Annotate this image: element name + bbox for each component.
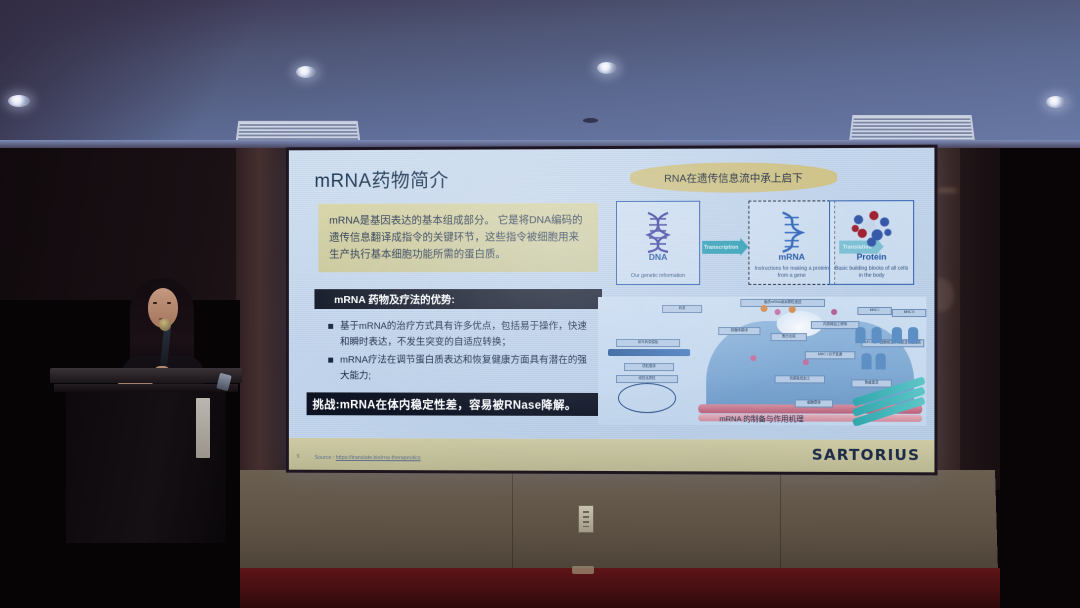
pathway-node-mrna: mRNA Instructions for making a protein f… [748,200,835,285]
mechanism-figure: 体外转录模板 质粒载体 线性化质粒 转录 脂质mRNA纳米颗粒递送 核糖体翻译 … [598,297,926,426]
dna-construct-bar [608,349,690,356]
wall-highlight [936,188,958,193]
projection-screen: mRNA药物简介 mRNA是基因表达的基本组成部分。 它是将DNA编码的遗传信息… [286,145,938,476]
figure-label: MHC II [892,309,926,317]
presenter-eye [153,302,157,304]
wall-seam [512,470,513,575]
receptor-icon [872,327,882,343]
arrow-transcription: Transcription [702,241,740,254]
figure-label: 细胞受体 [795,399,833,407]
pathway-node-protein: Protein Basic building blocks of all cel… [829,200,914,285]
protein-blob-icon [848,208,895,248]
floor-object [572,566,594,574]
pathway-node-dna: DNA Our genetic information [616,201,700,285]
dna-helix-icon [641,210,675,254]
bullet-square-icon [328,324,333,329]
microphone-head-icon [159,318,171,331]
lipid-particle [803,359,809,365]
source-label: Source : [314,455,335,461]
advantages-header-bar: mRNA 药物及疗法的优势: [314,289,602,309]
sartorius-logo: SARTORIUS [812,446,921,465]
wall-pillar [236,148,288,490]
pathway-node-name: Protein [830,252,913,262]
plasmid-circle [618,383,676,413]
lipid-particle [775,309,781,315]
slide-title: mRNA药物简介 [314,166,448,193]
advantages-bullet-list: 基于mRNA的治疗方式具有许多优点，包括易于操作，快速和瞬时表达，不发生突变的自… [314,313,602,393]
advantages-header-label: mRNA 药物及疗法的优势: [334,292,455,307]
right-banner: RNA在遗传信息流中承上启下 [630,162,837,193]
downlight-icon [1046,96,1066,108]
challenge-bar: 挑战: mRNA在体内稳定性差，容易被RNase降解。 [307,392,604,416]
receptor-icon [892,327,902,343]
pathway-node-name: DNA [617,252,699,262]
downlight-icon [296,66,316,78]
podium-lip [54,384,238,392]
conference-room-photo: mRNA药物简介 mRNA是基因表达的基本组成部分。 它是将DNA编码的遗传信息… [0,0,1080,608]
figure-label: MHC I 分子呈递 [805,351,856,359]
podium [50,368,242,543]
presenter-eye [167,302,171,304]
challenge-keyword: 挑战: [312,396,339,412]
source-url-link[interactable]: https://translate.bio/rna-therapeutics [336,455,421,461]
challenge-text: mRNA在体内稳定性差，容易被RNase降解。 [340,396,577,413]
figure-label: 体外转录模板 [616,339,680,347]
figure-label: 线性化质粒 [616,375,678,383]
source-line: Source : https://translate.bio/rna-thera… [314,455,420,461]
intro-text-box: mRNA是基因表达的基本组成部分。 它是将DNA编码的遗传信息翻译成指令的关键环… [318,203,598,272]
page-number: 9 [297,454,300,460]
figure-label: 内质网加工修饰 [811,321,860,329]
figure-label: 免疫激活 [851,379,892,387]
figure-label: 核糖体翻译 [718,327,760,335]
figure-label: 脂质mRNA纳米颗粒递送 [740,299,825,307]
receptor-icon [861,353,871,369]
receptor-icon [908,327,918,343]
wall-outlet [578,505,594,533]
bullet-text: mRNA疗法在调节蛋白质表达和恢复健康方面具有潜在的强大能力; [340,353,592,384]
receptor-icon [855,327,865,343]
mrna-strand-icon [778,209,806,253]
figure-label: MHC I [857,307,891,315]
podium-top [50,368,242,383]
downlight-icon [597,62,617,74]
pathway-node-desc: Our genetic information [620,273,696,280]
figure-label: 抗原肽段加工 [775,375,825,383]
right-dark-area [1000,148,1080,608]
mechanism-caption: mRNA 的制备与作用机理 [598,413,926,425]
figure-label: 转录 [662,305,702,313]
pathway-node-desc: Instructions for making a protein from a… [752,266,831,280]
bullet-text: 基于mRNA的治疗方式具有许多优点，包括易于操作，快速和瞬时表达，不发生突变的自… [340,319,592,350]
wall-seam [780,470,781,575]
list-item: mRNA疗法在调节蛋白质表达和恢复健康方面具有潜在的强大能力; [328,353,592,384]
lipid-particle [750,355,756,361]
figure-label: 质粒载体 [624,363,674,371]
lipid-particle [760,305,767,312]
lipid-particle [789,306,796,313]
figure-label: 蛋白合成 [771,333,807,341]
podium-papers [196,398,210,458]
lipid-particle [831,309,837,315]
downlight-icon [8,95,30,107]
arrow-label: Transcription [704,244,738,250]
bullet-square-icon [328,358,333,363]
pathway-node-name: mRNA [749,252,834,262]
pathway-node-desc: Basic building blocks of all cells in th… [833,266,910,280]
pathway-diagram: DNA Our genetic information Transcriptio… [616,200,914,285]
list-item: 基于mRNA的治疗方式具有许多优点，包括易于操作，快速和瞬时表达，不发生突变的自… [328,319,592,350]
lower-wall [202,470,998,576]
presentation-slide: mRNA药物简介 mRNA是基因表达的基本组成部分。 它是将DNA编码的遗传信息… [289,148,935,473]
receptor-icon [876,353,886,369]
